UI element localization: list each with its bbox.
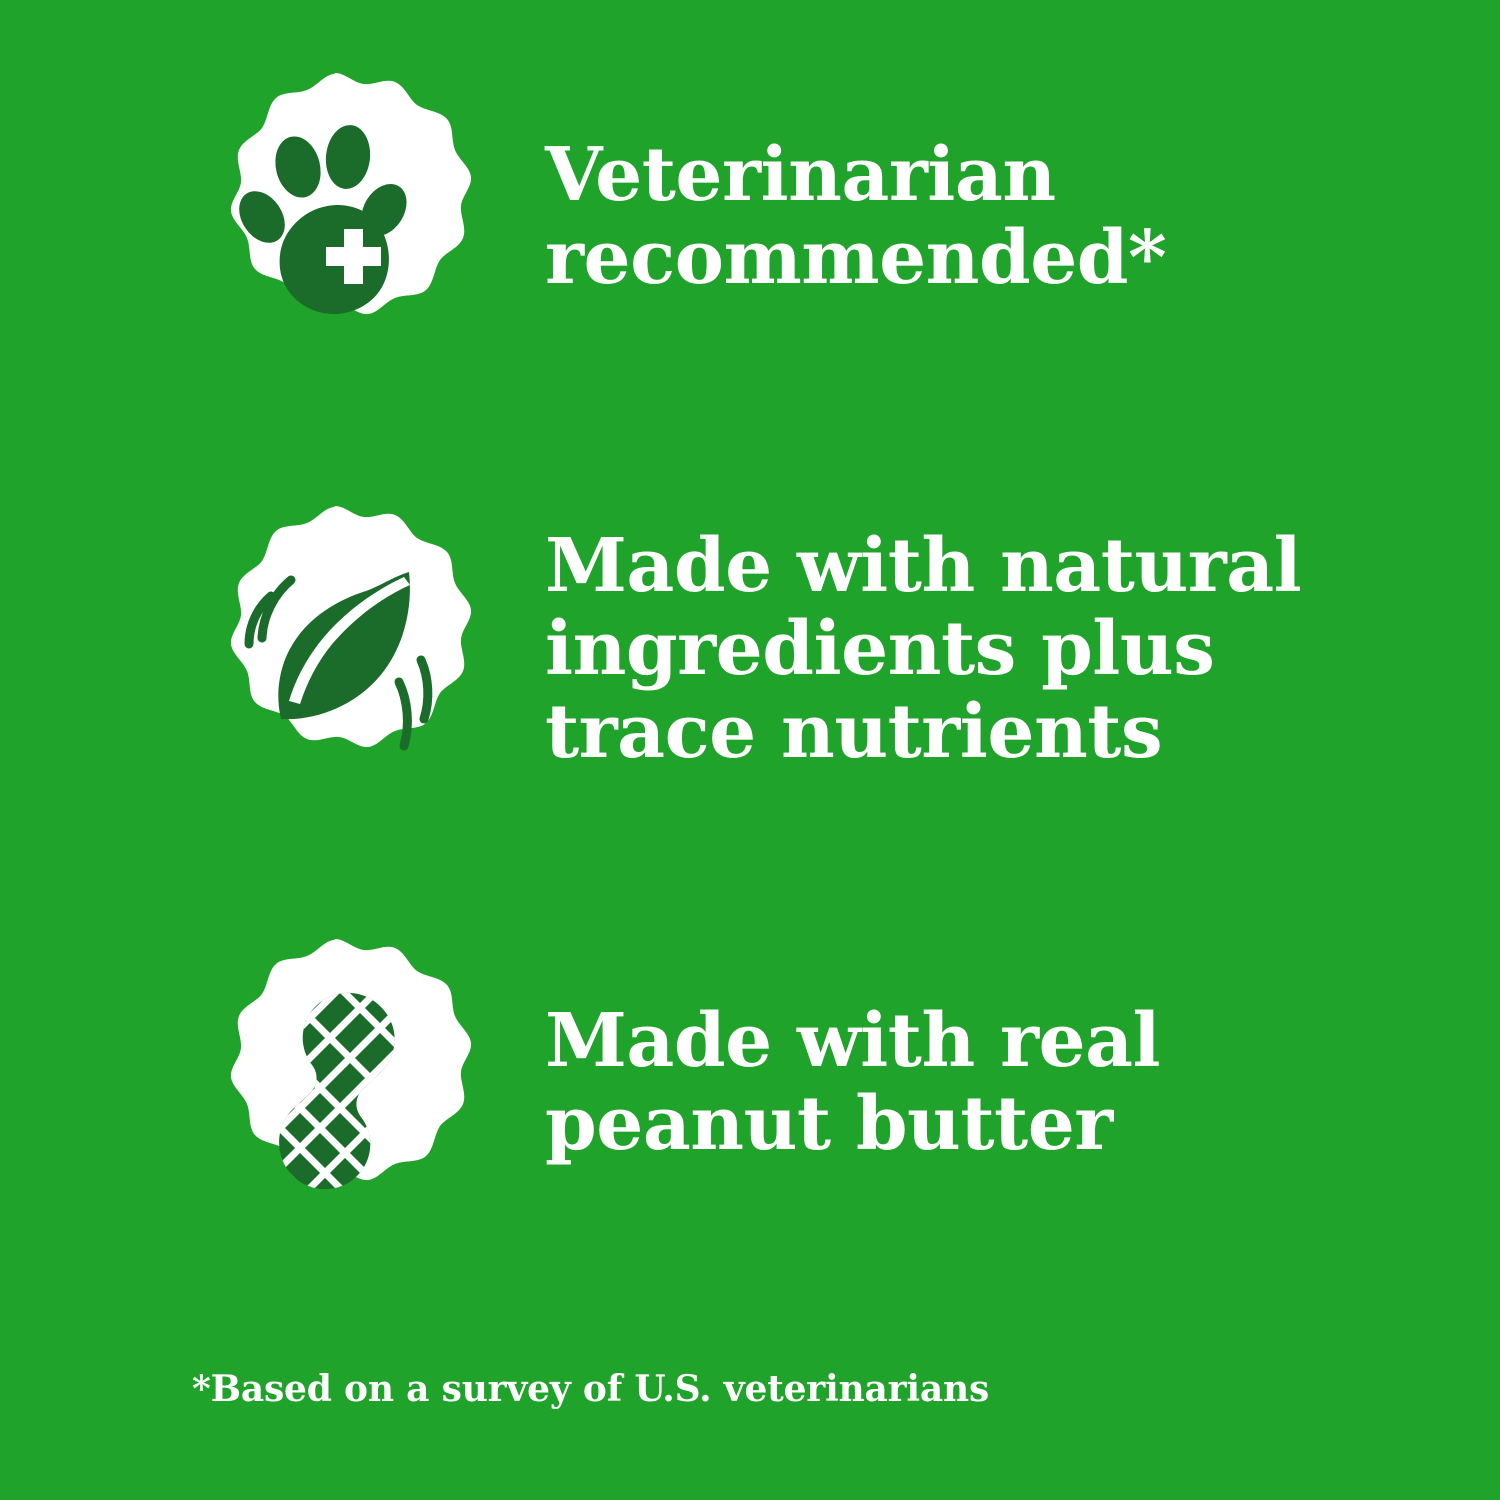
feature-row: Made with real peanut butter (0, 866, 1500, 1299)
feature-list: Veterinarian recommended* (0, 0, 1500, 1340)
feature-label: Made with real peanut butter (545, 1000, 1305, 1166)
footnote: *Based on a survey of U.S. veterinarians (192, 1368, 989, 1411)
feature-row: Veterinarian recommended* (0, 0, 1500, 433)
feature-label: Veterinarian recommended* (545, 134, 1305, 300)
badge-veterinarian (185, 67, 485, 367)
promo-graphic: Veterinarian recommended* (0, 0, 1500, 1500)
feature-row: Made with natural ingredients plus trace… (0, 433, 1500, 866)
badge-peanut-butter (185, 933, 485, 1233)
badge-natural-ingredients (185, 500, 485, 800)
feature-label: Made with natural ingredients plus trace… (545, 525, 1305, 774)
